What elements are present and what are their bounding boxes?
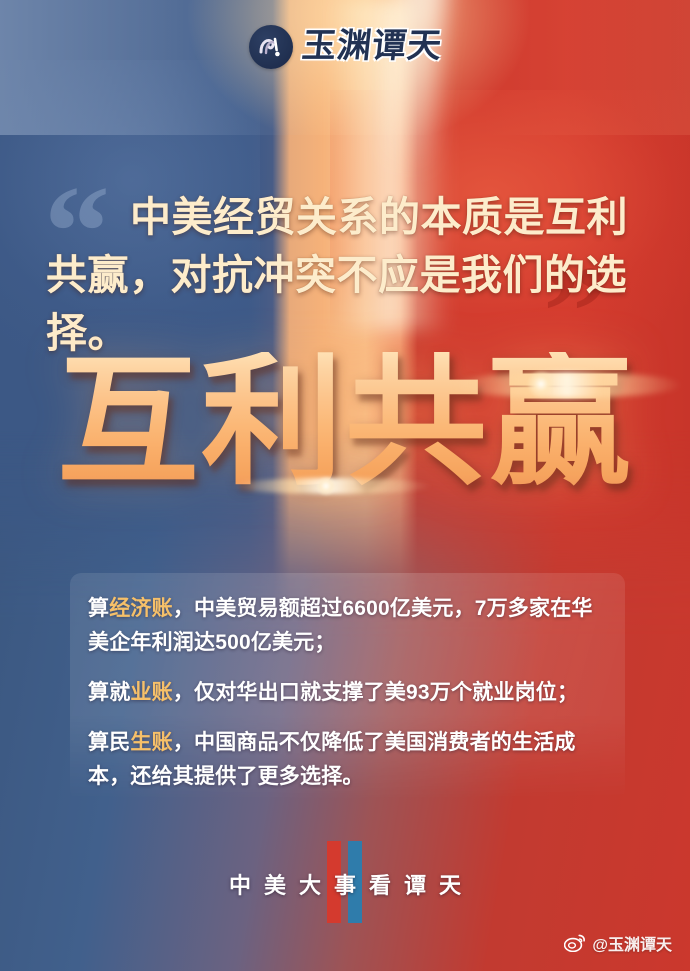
paragraph-lead-highlight: 生账: [130, 731, 172, 754]
yuyuan-tantian-circle-icon: [249, 25, 293, 69]
body-paragraph-livelihood: 算民生账，中国商品不仅降低了美国消费者的生活成本，还给其提供了更多选择。: [88, 726, 610, 794]
footer-slogan: 中美大事看谭天: [0, 868, 690, 900]
paragraph-lead-plain: 算就: [88, 681, 130, 704]
body-paragraph-economy: 算经济账，中美贸易额超过6600亿美元，7万多家在华美企年利润达500亿美元；: [88, 592, 610, 660]
paragraph-lead-plain: 算民: [88, 731, 130, 754]
weibo-handle: @玉渊谭天: [592, 931, 672, 955]
brand-logo: 玉渊谭天: [0, 18, 690, 76]
weibo-watermark: @玉渊谭天: [564, 931, 672, 955]
brand-logo-text: 玉渊谭天: [300, 30, 444, 64]
quote-text: 中美经贸关系的本质是互利共赢，对抗冲突不应是我们的选择。: [46, 188, 646, 363]
paragraph-rest: ，仅对华出口就支撑了美93万个就业岗位；: [173, 681, 578, 704]
paragraph-lead-highlight: 经济账: [109, 597, 173, 620]
paragraph-lead-highlight: 业账: [130, 681, 172, 704]
body-paragraph-employment: 算就业账，仅对华出口就支撑了美93万个就业岗位；: [88, 676, 610, 710]
poster-canvas: 玉渊谭天 “ ” 中美经贸关系的本质是互利共赢，对抗冲突不应是我们的选择。 互利…: [0, 0, 690, 971]
paragraph-lead-plain: 算: [88, 597, 109, 620]
quote-block: “ ” 中美经贸关系的本质是互利共赢，对抗冲突不应是我们的选择。: [0, 172, 690, 342]
weibo-icon: [564, 934, 586, 952]
headline-text: 互利共赢: [0, 352, 690, 494]
body-text-content: 算经济账，中美贸易额超过6600亿美元，7万多家在华美企年利润达500亿美元； …: [88, 592, 610, 794]
